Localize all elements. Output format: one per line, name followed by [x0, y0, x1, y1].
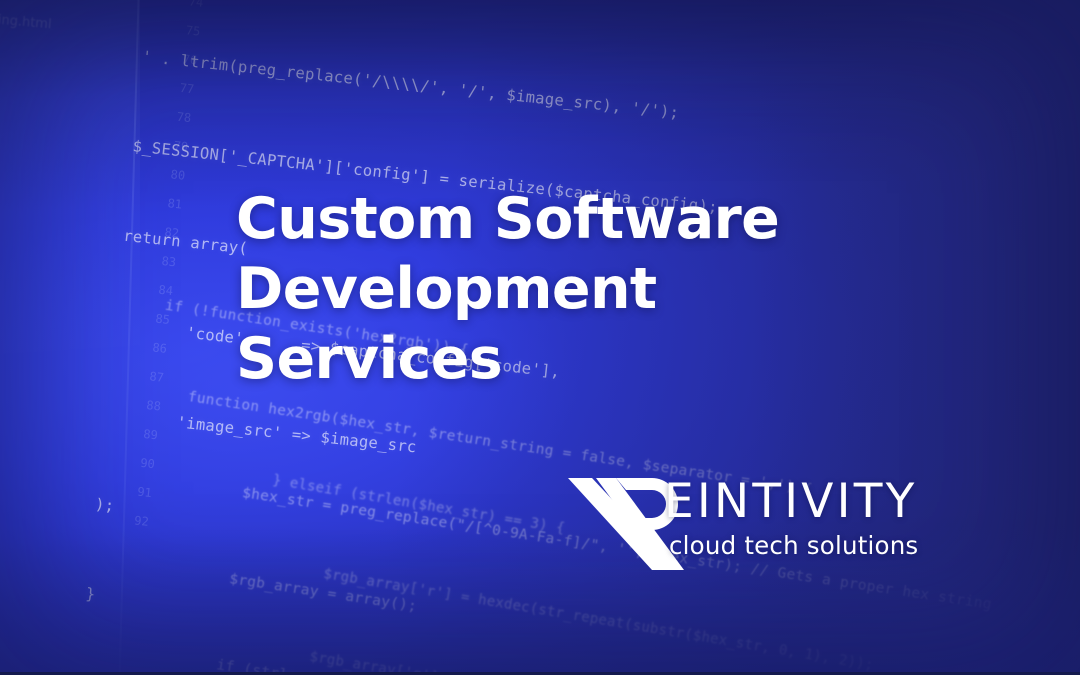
brand-name: EINTIVITY — [664, 472, 964, 532]
headline-line-2: Development Services — [236, 254, 936, 394]
brand-logo: EINTIVITY cloud tech solutions — [566, 472, 966, 576]
brand-wordmark: EINTIVITY cloud tech solutions — [664, 472, 964, 562]
promo-banner: _string.html 74 75 76 77 78 79 80 81 82 … — [0, 0, 1080, 675]
brand-tagline: cloud tech solutions — [669, 530, 964, 562]
headline-line-1: Custom Software — [236, 184, 936, 254]
page-title: Custom Software Development Services — [236, 184, 936, 394]
